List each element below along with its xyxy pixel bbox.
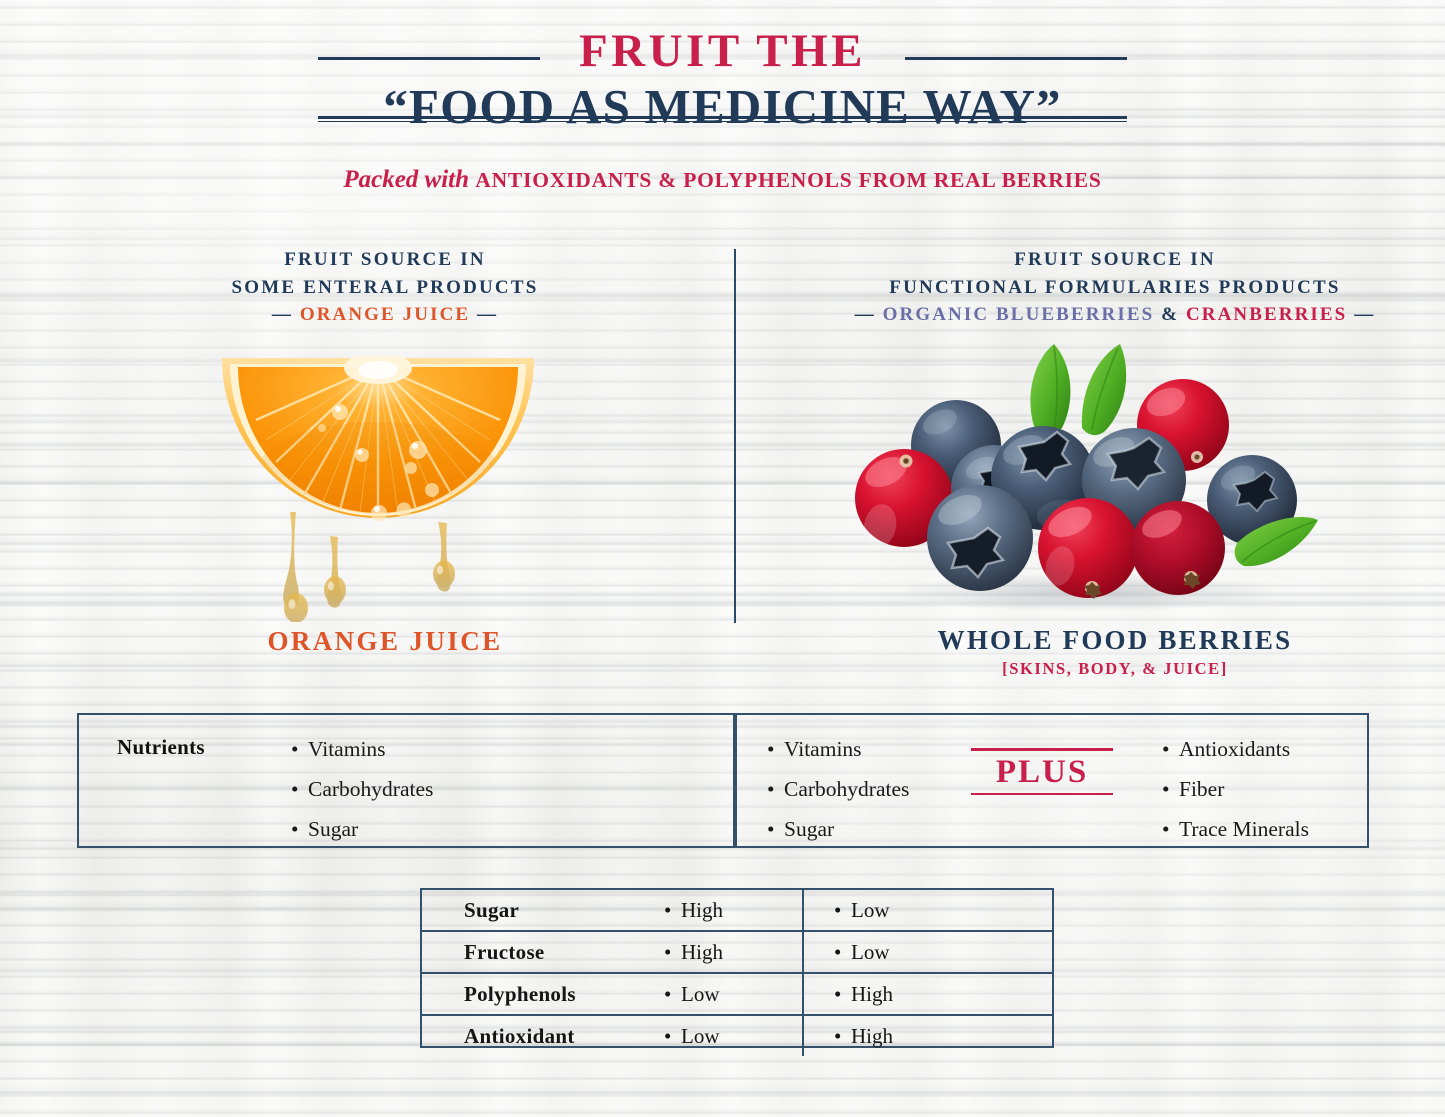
list-item-label: Sugar [308,817,358,841]
list-item-label: Carbohydrates [784,777,909,801]
list-item-label: Carbohydrates [308,777,433,801]
left-caption: ORANGE JUICE [150,626,620,657]
subtitle: Packed with ANTIOXIDANTS & POLYPHENOLS F… [0,166,1445,194]
list-item: •Sugar [767,809,909,849]
row-label: Sugar [422,890,646,931]
bullet-icon: • [834,940,851,965]
list-item-label: Vitamins [784,737,862,761]
left-dash-left: — [272,304,300,325]
bullet-icon: • [664,1024,681,1049]
subtitle-italic: Packed with [343,166,475,193]
orange-slice-image [218,350,538,622]
bullet-icon: • [664,982,681,1007]
plus-rule-bottom [971,793,1113,796]
list-item: •Sugar [291,809,433,849]
bullet-icon: • [664,940,681,965]
bullet-icon: • [1162,769,1179,809]
right-caption-text: WHOLE FOOD BERRIES [830,625,1400,656]
row-value-berries: •Low [803,931,1052,973]
left-caption-text: ORANGE JUICE [267,626,502,656]
left-dash-right: — [470,304,498,325]
nutrients-box-whole-food-berries: •Vitamins •Carbohydrates •Sugar PLUS •An… [735,713,1369,848]
row-value-berries: •Low [803,890,1052,931]
bullet-icon: • [767,809,784,849]
right-accent-cranberries: CRANBERRIES [1186,304,1347,325]
list-item-label: Trace Minerals [1179,817,1309,841]
bullet-icon: • [291,729,308,769]
list-item: •Fiber [1162,769,1309,809]
title-line-1: FRUIT THE [0,28,1445,75]
row-value-orange-juice: •High [646,890,803,931]
bullet-icon: • [834,1024,851,1049]
comparison-table: Sugar •High •Low Fructose •High •Low Pol… [420,888,1054,1048]
right-column-header: FRUIT SOURCE IN FUNCTIONAL FORMULARIES P… [830,246,1400,326]
row-value-orange-juice: •High [646,931,803,973]
nutrients-label: Nutrients [117,735,205,760]
list-item: •Trace Minerals [1162,809,1309,849]
title-rule-left [318,57,540,60]
bullet-icon: • [291,769,308,809]
row-value-orange-juice: •Low [646,973,803,1015]
title-underline-thin [318,121,1127,122]
plus-label: PLUS [971,751,1113,793]
list-item: •Vitamins [291,729,433,769]
row-value-orange-juice: •Low [646,1015,803,1056]
bullet-icon: • [291,809,308,849]
column-divider [734,249,736,623]
berries-base-nutrient-list: •Vitamins •Carbohydrates •Sugar [767,729,909,849]
list-item-label: Fiber [1179,777,1224,801]
left-accent-text: ORANGE JUICE [300,304,470,325]
row-value-berries: •High [803,973,1052,1015]
value-text: High [681,940,723,964]
right-caption: WHOLE FOOD BERRIES [SKINS, BODY, & JUICE… [830,625,1400,679]
list-item: •Antioxidants [1162,729,1309,769]
list-item-label: Sugar [784,817,834,841]
table-row: Polyphenols •Low •High [422,973,1052,1015]
value-text: Low [681,982,720,1006]
left-header-accent: — ORANGE JUICE — [150,304,620,326]
value-text: Low [851,898,890,922]
value-text: Low [681,1024,720,1048]
right-dash-right: — [1347,304,1375,325]
value-text: High [681,898,723,922]
row-label: Fructose [422,931,646,973]
right-header-accent: — ORGANIC BLUEBERRIES & CRANBERRIES — [830,304,1400,326]
table-row: Sugar •High •Low [422,890,1052,931]
list-item: •Vitamins [767,729,909,769]
bullet-icon: • [1162,809,1179,849]
plus-badge: PLUS [971,748,1113,795]
right-dash-left: — [855,304,883,325]
right-caption-subtext: [SKINS, BODY, & JUICE] [830,659,1400,679]
title-underline-thick [318,116,1127,119]
left-header-line-1: FRUIT SOURCE IN [150,246,620,274]
title-rule-right [905,57,1127,60]
bullet-icon: • [834,982,851,1007]
orange-juice-nutrient-list: •Vitamins •Carbohydrates •Sugar [291,729,433,849]
left-header-line-2: SOME ENTERAL PRODUCTS [150,274,620,302]
nutrients-box-orange-juice: Nutrients •Vitamins •Carbohydrates •Suga… [77,713,735,848]
list-item: •Carbohydrates [767,769,909,809]
row-label: Polyphenols [422,973,646,1015]
bullet-icon: • [767,769,784,809]
right-accent-blueberries: ORGANIC BLUEBERRIES [883,304,1155,325]
bullet-icon: • [834,898,851,923]
right-header-line-1: FRUIT SOURCE IN [830,246,1400,274]
title-line-2: “FOOD AS MEDICINE WAY” [0,81,1445,133]
berries-image [848,330,1322,612]
left-column-header: FRUIT SOURCE IN SOME ENTERAL PRODUCTS — … [150,246,620,326]
value-text: High [851,982,893,1006]
right-accent-ampersand: & [1154,304,1186,325]
bullet-icon: • [767,729,784,769]
berries-extra-nutrient-list: •Antioxidants •Fiber •Trace Minerals [1162,729,1309,849]
bullet-icon: • [1162,729,1179,769]
list-item-label: Antioxidants [1179,737,1290,761]
row-value-berries: •High [803,1015,1052,1056]
subtitle-caps: ANTIOXIDANTS & POLYPHENOLS FROM REAL BER… [475,168,1101,192]
list-item: •Carbohydrates [291,769,433,809]
table-row: Fructose •High •Low [422,931,1052,973]
value-text: High [851,1024,893,1048]
table-row: Antioxidant •Low •High [422,1015,1052,1056]
bullet-icon: • [664,898,681,923]
row-label: Antioxidant [422,1015,646,1056]
right-header-line-2: FUNCTIONAL FORMULARIES PRODUCTS [830,274,1400,302]
list-item-label: Vitamins [308,737,386,761]
value-text: Low [851,940,890,964]
